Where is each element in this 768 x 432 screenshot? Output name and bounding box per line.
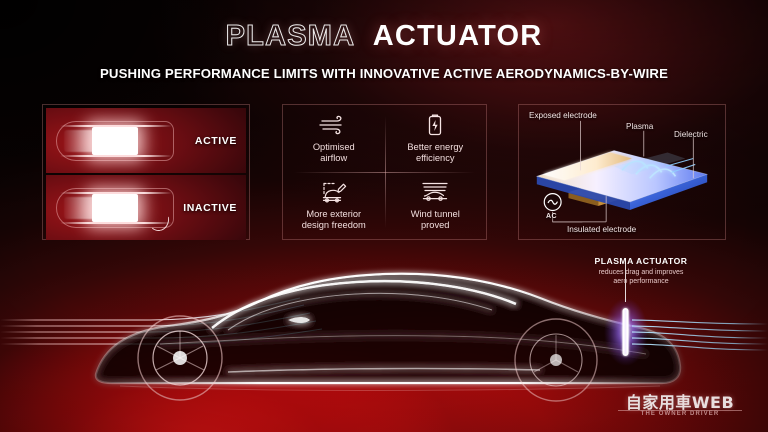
title-plasma: PLASMA	[226, 20, 355, 52]
benefits-panel: Optimisedairflow Better energyefficiency	[282, 104, 487, 240]
callout-subtext: reduces drag and improvesaero performanc…	[562, 268, 720, 287]
benefit-label: More exteriordesign freedom	[302, 209, 366, 232]
benefit-label: Wind tunnelproved	[411, 209, 460, 232]
plasma-actuator-callout: PLASMA ACTUATOR reduces drag and improve…	[562, 256, 720, 287]
page-subtitle: PUSHING PERFORMANCE LIMITS WITH INNOVATI…	[0, 66, 768, 81]
benefit-label: Better energyefficiency	[407, 142, 463, 165]
label-ac: AC	[546, 213, 557, 220]
label-insulated-electrode: Insulated electrode	[567, 225, 636, 234]
car-pencil-design-icon	[317, 180, 351, 204]
state-label-inactive: INACTIVE	[183, 202, 237, 214]
infographic-canvas: PLASMA ACTUATOR PUSHING PERFORMANCE LIMI…	[0, 0, 768, 432]
turbulence-swirl-icon	[147, 216, 171, 232]
benefit-better-energy-efficiency: Better energyefficiency	[385, 105, 487, 172]
benefit-label: Optimisedairflow	[313, 142, 355, 165]
ac-symbol-icon	[544, 194, 561, 211]
car-wind-tunnel-icon	[418, 180, 452, 204]
state-label-active: ACTIVE	[195, 135, 237, 147]
battery-bolt-icon	[418, 113, 452, 137]
label-exposed-electrode: Exposed electrode	[529, 111, 597, 120]
callout-title: PLASMA ACTUATOR	[562, 256, 720, 266]
benefit-optimised-airflow: Optimisedairflow	[283, 105, 385, 172]
car-top-view-icon	[56, 186, 174, 230]
car-top-view-inactive: INACTIVE	[46, 175, 246, 240]
label-plasma: Plasma	[626, 122, 653, 131]
airflow-icon	[317, 113, 351, 137]
site-logo[interactable]: 自家用車WEB THE OWNER DRIVER	[600, 390, 760, 424]
title-actuator: ACTUATOR	[373, 20, 543, 52]
logo-wordmark: 自家用車WEB	[600, 390, 760, 412]
actuator-diagram-panel: Exposed electrode Plasma Dielectric AC I…	[518, 104, 726, 240]
benefit-more-exterior-design-freedom: More exteriordesign freedom	[283, 172, 385, 239]
benefit-wind-tunnel-proved: Wind tunnelproved	[385, 172, 487, 239]
label-dielectric: Dielectric	[674, 130, 708, 139]
car-top-view-icon	[56, 119, 174, 163]
active-inactive-panel: ACTIVE INACTIVE	[42, 104, 250, 240]
car-top-view-active: ACTIVE	[46, 108, 246, 173]
logo-tagline: THE OWNER DRIVER	[600, 411, 760, 417]
page-title: PLASMA ACTUATOR	[0, 22, 768, 51]
